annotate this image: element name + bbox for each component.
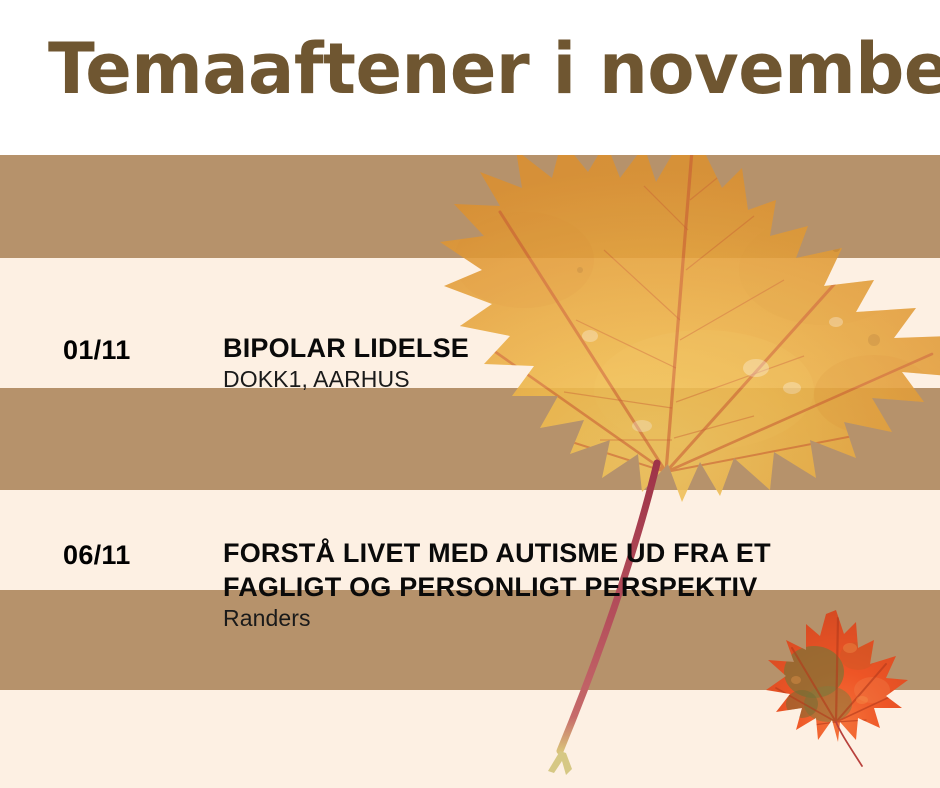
event-row-3[interactable]: 15/11 SKIZOFRENI Biblioteket i Rønde: [0, 388, 940, 490]
poster-canvas: 01/11 BIPOLAR LIDELSE DOKK1, AARHUS 06/1…: [0, 0, 940, 788]
event-row-4[interactable]: 15/11 NÅR TRAUMER MEDFØRER PTSD Viborg B…: [0, 490, 940, 590]
event-row-5[interactable]: 22/11 FORSTÅ DIAGNOSEN BORDERLINE Hammel…: [0, 590, 940, 690]
page-title: Temaaftener i november: [48, 27, 940, 111]
event-row-6[interactable]: 27/11 SKIZOFRENI Minihøjskolen i Herning: [0, 690, 940, 788]
event-row-2[interactable]: 06/11 FORSTÅ LIVET MED AUTISME UD FRA ET…: [0, 258, 940, 388]
event-row-1[interactable]: 01/11 BIPOLAR LIDELSE DOKK1, AARHUS: [0, 155, 940, 258]
poster-header: Temaaftener i november: [0, 0, 940, 155]
